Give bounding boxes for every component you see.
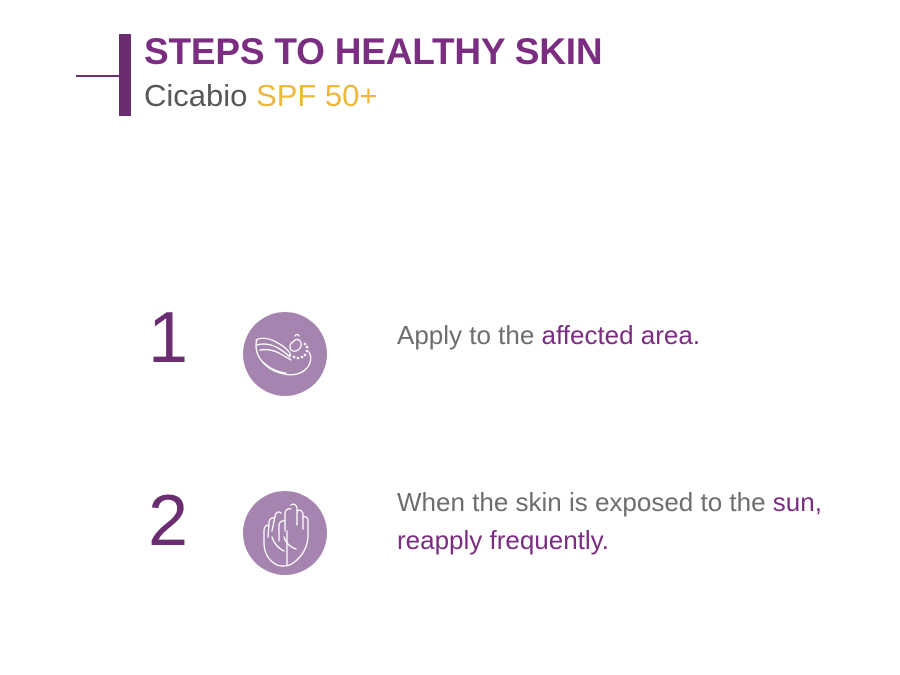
step-text: When the skin is exposed to the sun, rea… [397, 483, 847, 559]
header-text-block: STEPS TO HEALTHY SKIN Cicabio SPF 50+ [144, 30, 602, 115]
logo-vertical-bar [119, 34, 131, 116]
step-item: 1 [0, 290, 900, 475]
slide-header: STEPS TO HEALTHY SKIN Cicabio SPF 50+ [76, 30, 836, 125]
step-text-plain-1: When the skin is exposed to [397, 487, 729, 517]
step-text-plain-2: the [729, 487, 772, 517]
steps-list: 1 [0, 290, 900, 660]
step-number: 1 [148, 300, 212, 376]
hands-rubbing-icon [243, 491, 327, 575]
hand-with-cream-icon [243, 312, 327, 396]
slide-root: STEPS TO HEALTHY SKIN Cicabio SPF 50+ 1 [0, 0, 900, 675]
page-subtitle: Cicabio SPF 50+ [144, 77, 602, 115]
bioderma-bar-mark-icon [76, 30, 132, 118]
step-text-plain: Apply to the [397, 320, 542, 350]
step-item: 2 [0, 475, 900, 660]
logo-horizontal-rule [76, 75, 121, 77]
page-title: STEPS TO HEALTHY SKIN [144, 30, 602, 74]
step-text-highlight: affected area. [542, 320, 701, 350]
subtitle-spf: SPF 50+ [256, 78, 378, 113]
step-number: 2 [148, 483, 212, 559]
step-text: Apply to the affected area. [397, 316, 847, 354]
subtitle-brand: Cicabio [144, 78, 247, 113]
